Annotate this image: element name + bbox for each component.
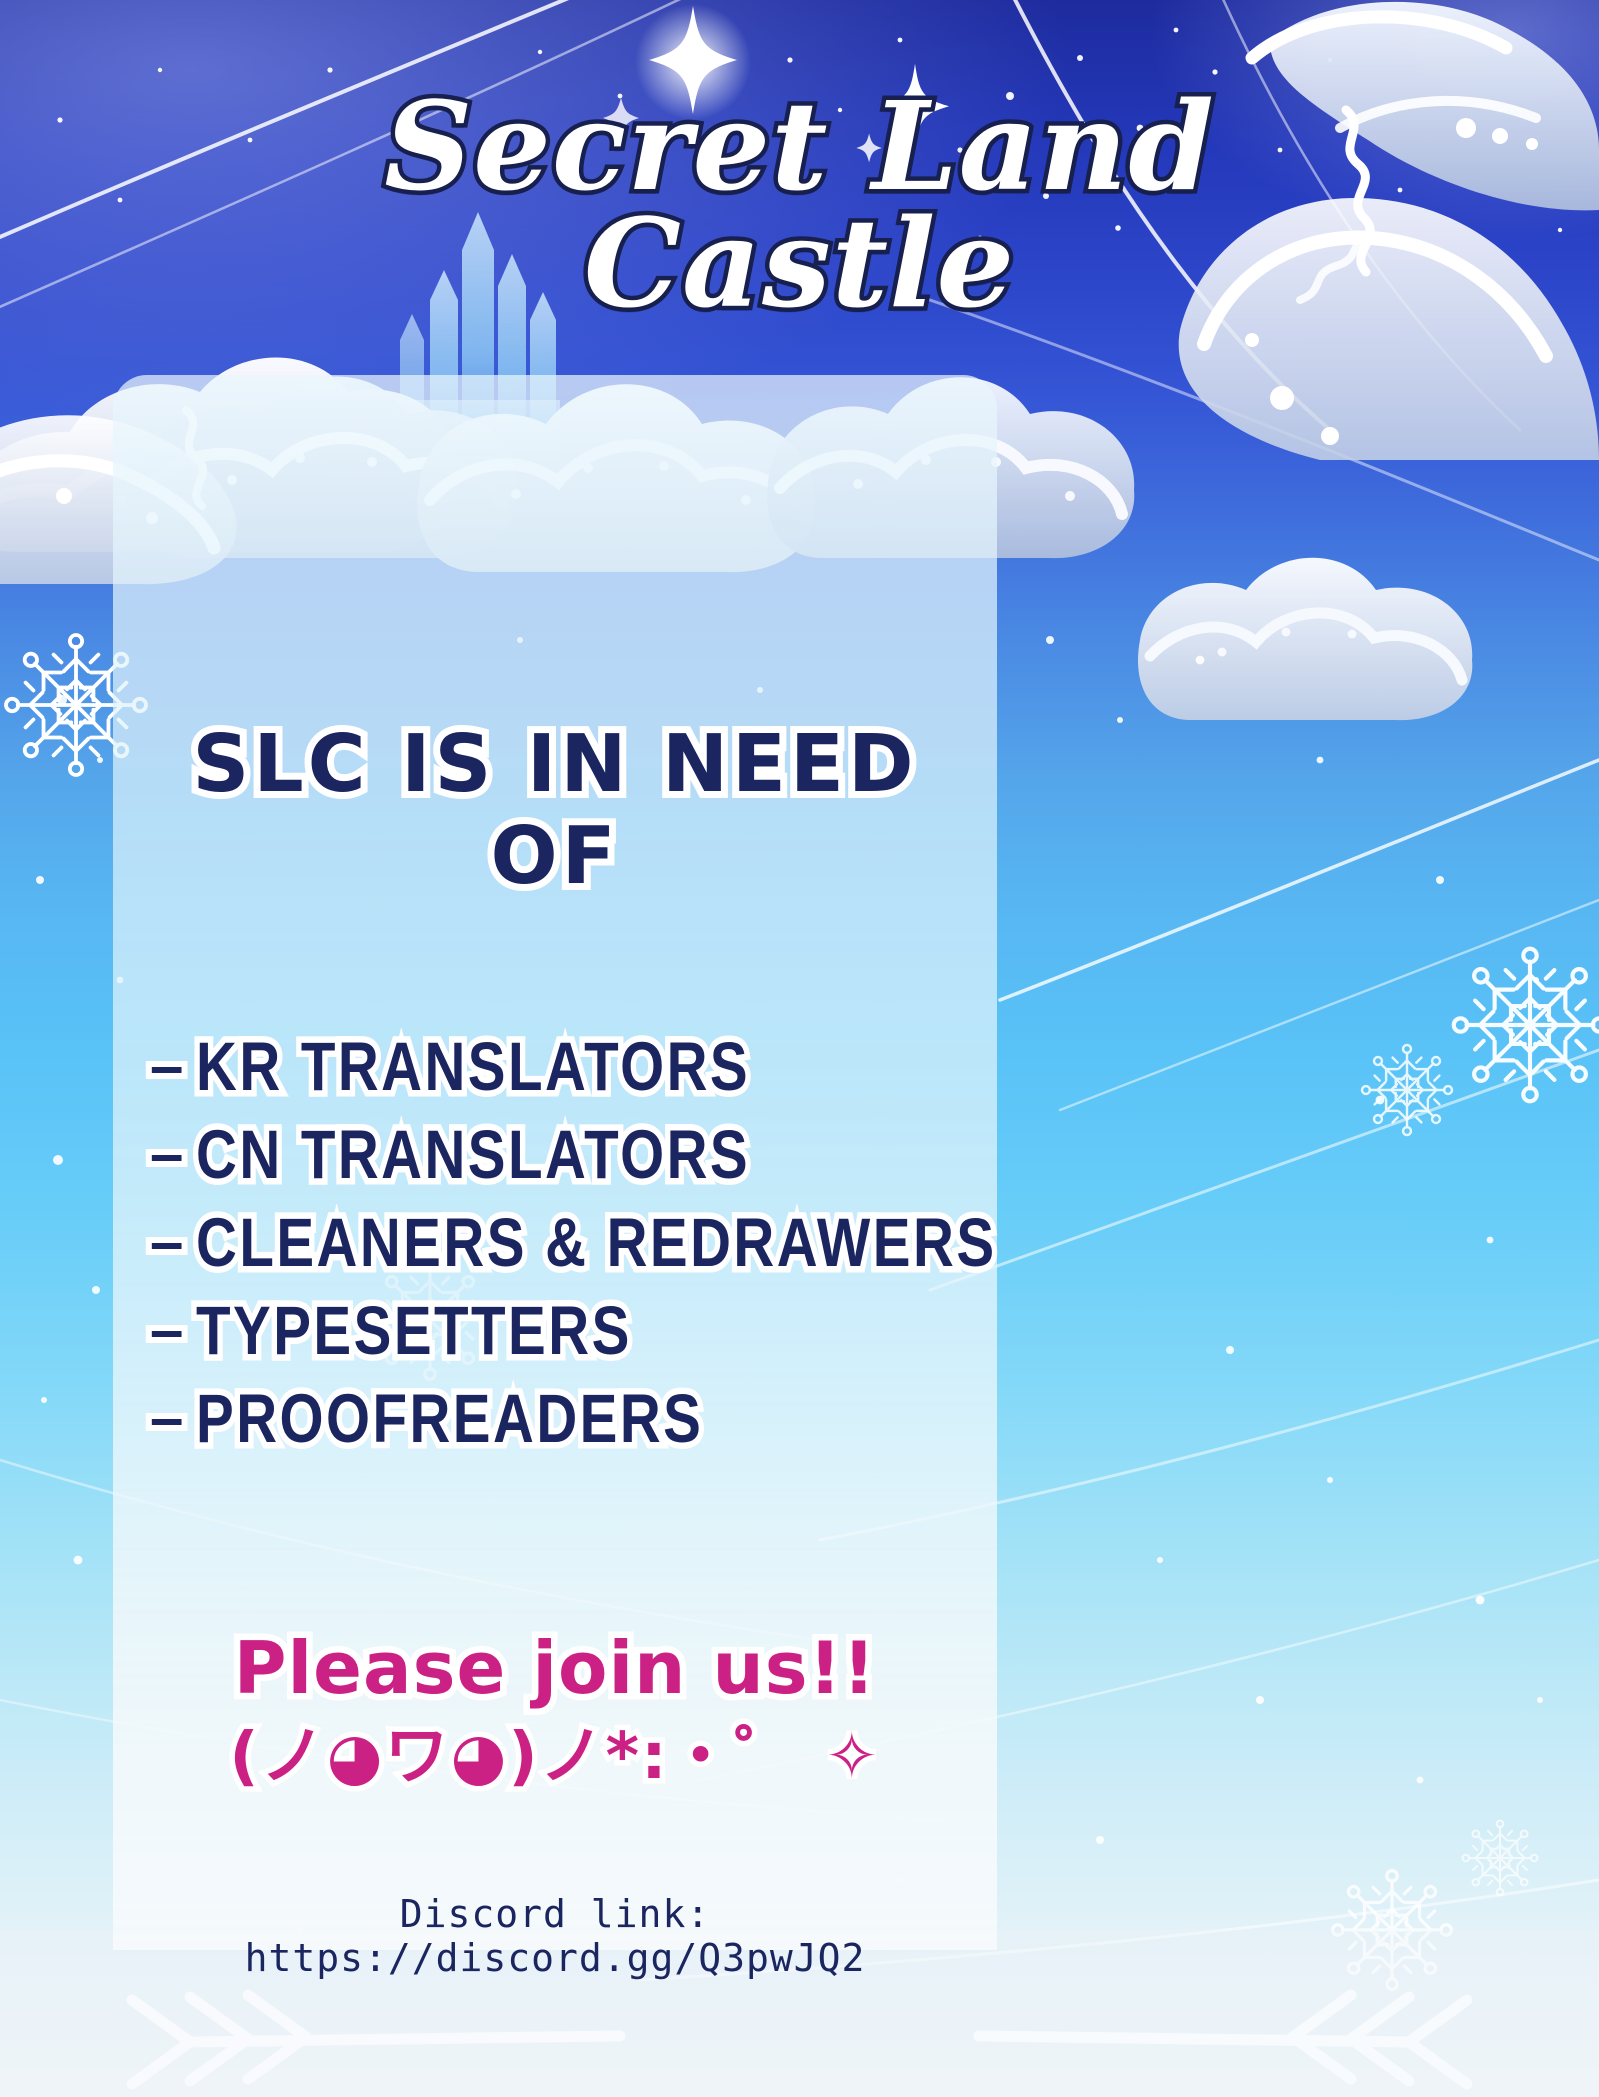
headline-text: SLC IS IN NEED OF: [113, 718, 997, 902]
role-label: KR TRANSLATORS: [196, 1032, 750, 1101]
snowflake-icon: [1454, 949, 1599, 1102]
list-item: – KR TRANSLATORS: [150, 1022, 1050, 1110]
discord-link[interactable]: Discord link: https://discord.gg/Q3pwJQ2: [113, 1892, 997, 1980]
bullet-dash: –: [150, 1300, 196, 1360]
join-block: Please join us!! (ノ◕ワ◕)ノ*:・゜ ✧: [113, 1630, 997, 1792]
roles-list: – KR TRANSLATORS – CN TRANSLATORS – CLEA…: [150, 1022, 1050, 1462]
list-item: – TYPESETTERS: [150, 1286, 1050, 1374]
role-label: CN TRANSLATORS: [196, 1120, 750, 1189]
poster-canvas: Secret Land Castle SLC IS IN NEED OF – K…: [0, 0, 1599, 2097]
list-item: – CLEANERS & REDRAWERS: [150, 1198, 1050, 1286]
role-label: PROOFREADERS: [196, 1384, 703, 1453]
role-label: CLEANERS & REDRAWERS: [196, 1208, 997, 1277]
bullet-dash: –: [150, 1212, 196, 1272]
snowflake-icon: [1362, 1045, 1452, 1135]
bullet-dash: –: [150, 1036, 196, 1096]
join-title: Please join us!!: [113, 1630, 997, 1708]
bullet-dash: –: [150, 1124, 196, 1184]
bullet-dash: –: [150, 1388, 196, 1448]
list-item: – CN TRANSLATORS: [150, 1110, 1050, 1198]
kaomoji-emoticon: (ノ◕ワ◕)ノ*:・゜ ✧: [113, 1722, 997, 1792]
list-item: – PROOFREADERS: [150, 1374, 1050, 1462]
role-label: TYPESETTERS: [196, 1296, 632, 1365]
snowflake-icon: [1463, 1821, 1538, 1896]
